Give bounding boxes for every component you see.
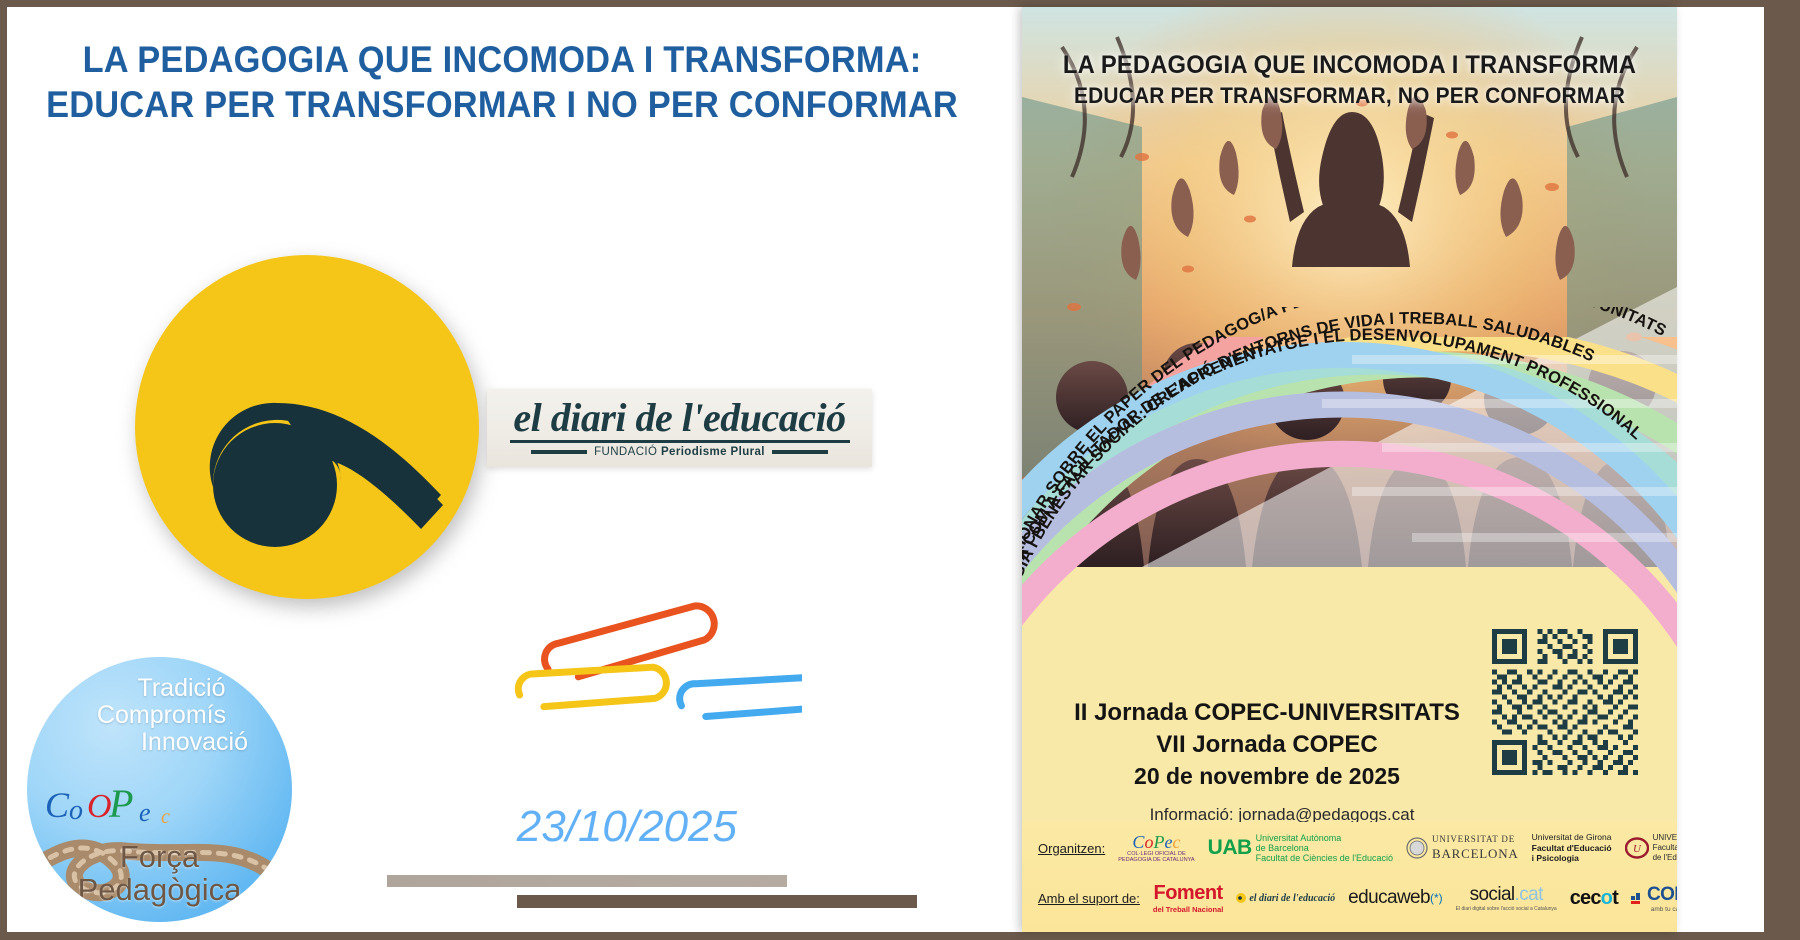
decorative-bar-dark [517, 895, 917, 908]
decorative-bar-light [387, 875, 787, 887]
supporters-row: Amb el suport de: Foment del Treball Nac… [1038, 876, 1663, 920]
socialcat-sub: El diari digital sobre l'acció social a … [1456, 906, 1557, 912]
poster-title-line2: EDUCAR PER TRANSFORMAR, NO PER CONFORMAR [1038, 82, 1660, 111]
uab-sub1: Universitat Autònoma [1256, 833, 1342, 843]
cecot-mark-o: o [1601, 887, 1612, 909]
logo-udg[interactable]: Universitat de Girona Facultat d'Educaci… [1532, 827, 1612, 869]
socialcat-mark: social [1470, 884, 1515, 905]
copec-claim: Tradició Compromís Innovació [27, 675, 292, 756]
diari-subline: FUNDACIÓ Periodisme Plural [531, 446, 828, 458]
urv-line2: Facultat de Ciències [1653, 843, 1677, 852]
organizers-label: Organitzen: [1038, 841, 1105, 856]
page-title-line2: EDUCAR PER TRANSFORMAR I NO PER CONFORMA… [42, 82, 963, 127]
coell-squares-icon [1631, 891, 1645, 905]
diari-educacio-logo: el diari de l'educació FUNDACIÓ Periodis… [487, 389, 872, 467]
page-title-line1: LA PEDAGOGIA QUE INCOMODA I TRANSFORMA: [83, 39, 922, 80]
date-label: 23/10/2025 [337, 802, 737, 852]
paperclips-decoration [502, 582, 802, 737]
ub-line2: BARCELONA [1432, 846, 1519, 861]
slide-canvas: LA PEDAGOGIA QUE INCOMODA I TRANSFORMA: … [0, 0, 1800, 940]
poster-title: LA PEDAGOGIA QUE INCOMODA I TRANSFORMA E… [1022, 49, 1677, 110]
poster-jornada-line1: II Jornada COPEC-UNIVERSITATS [1052, 697, 1482, 729]
ub-line1: UNIVERSITAT DE [1432, 834, 1515, 844]
diari-sub-prefix: FUNDACIÓ [594, 446, 661, 458]
udg-line1: Universitat de Girona [1532, 832, 1612, 842]
diari-wordmark: el diari de l'educació [513, 398, 845, 438]
diari-rule [510, 440, 850, 443]
poster-sponsor-footer: Organitzen: CoPec COL·LEGI OFICIAL DE PE… [1022, 822, 1677, 932]
logo-uab[interactable]: UAB Universitat Autònoma de Barcelona Fa… [1208, 827, 1393, 869]
organizers-row: Organitzen: CoPec COL·LEGI OFICIAL DE PE… [1038, 826, 1663, 870]
udg-line3: i Psicologia [1532, 853, 1579, 863]
diari-mini-dot-icon [1236, 893, 1246, 903]
urv-line1: UNIVERSITAT ROVIRA i VIRGILI [1653, 833, 1677, 842]
cecot-mark-b: t [1612, 887, 1618, 909]
left-content-panel: LA PEDAGOGIA QUE INCOMODA I TRANSFORMA: … [7, 7, 1017, 932]
uab-sub2: de Barcelona [1256, 843, 1309, 853]
diari-sub-bar-left [531, 450, 587, 454]
poster-event-details: II Jornada COPEC-UNIVERSITATS VII Jornad… [1052, 697, 1482, 792]
coell-mark: COELL [1647, 884, 1677, 906]
paperclip-icons [502, 582, 802, 737]
diari-mini-mark: el diari de l'educació [1249, 893, 1335, 904]
urv-line3: de l'Educació i Psicologia [1653, 853, 1677, 862]
foment-mark: Foment [1153, 882, 1223, 905]
logo-cecot[interactable]: cecot [1570, 877, 1618, 919]
diari-sub-text: FUNDACIÓ Periodisme Plural [594, 446, 765, 458]
frame-bottom-edge [0, 932, 1800, 940]
poster-jornada-line2: VII Jornada COPEC [1052, 729, 1482, 761]
ub-seal-icon [1406, 837, 1428, 859]
logo-educaweb[interactable]: educaweb (*) [1348, 877, 1443, 919]
diari-sub-bar-right [772, 450, 828, 454]
logo-coell[interactable]: COELL amb tu cap al futur [1631, 877, 1677, 919]
copec-force-line1: Força [27, 840, 292, 873]
poster-jornada-date: 20 de novembre de 2025 [1052, 761, 1482, 792]
copec-force-line2: Pedagògica [27, 873, 292, 906]
copec-logo: Tradició Compromís Innovació C o O P e c [27, 657, 292, 922]
udg-line2: Facultat d'Educació [1532, 843, 1612, 853]
uab-sub3: Facultat de Ciències de l'Educació [1256, 853, 1393, 863]
copec-force-text: Força Pedagògica [27, 840, 292, 906]
logo-copec[interactable]: CoPec COL·LEGI OFICIAL DE PEDAGOGIA DE C… [1118, 827, 1194, 869]
educaweb-star: (*) [1430, 891, 1443, 905]
urv-mark-icon: U [1625, 837, 1649, 859]
frame-right-edge [1764, 0, 1800, 940]
copec-mini-sub2: PEDAGOGIA DE CATALUNYA [1118, 857, 1194, 863]
logo-foment[interactable]: Foment del Treball Nacional [1153, 877, 1223, 919]
copec-claim-line1: Tradició [27, 675, 292, 702]
svg-text:U: U [1633, 843, 1642, 855]
support-label: Amb el suport de: [1038, 891, 1140, 906]
copec-claim-line2: Compromís [27, 702, 292, 729]
copec-mini-sub1: COL·LEGI OFICIAL DE [1127, 851, 1186, 857]
qr-code-icon[interactable] [1492, 629, 1638, 775]
logo-urv[interactable]: U UNIVERSITAT ROVIRA i VIRGILI Facultat … [1625, 827, 1677, 869]
page-title: LA PEDAGOGIA QUE INCOMODA I TRANSFORMA: … [42, 37, 963, 127]
comma-icon [117, 237, 497, 617]
frame-top-edge [0, 0, 1800, 7]
socialcat-suffix: .cat [1515, 884, 1543, 905]
paperclip-blue [679, 669, 802, 725]
logo-ub[interactable]: UNIVERSITAT DE BARCELONA [1406, 827, 1519, 869]
educaweb-mark: educaweb [1348, 887, 1430, 909]
paperclip-yellow [517, 658, 667, 715]
poster-arc-line3: EL PEDAGOGIA COM A FACILITADOR DE L'APRE… [1022, 326, 1646, 673]
logo-socialcat[interactable]: social.cat El diari digital sobre l'acci… [1456, 877, 1557, 919]
logo-diari-educacio[interactable]: el diari de l'educació [1236, 877, 1335, 919]
coell-sub: amb tu cap al futur [1647, 906, 1677, 913]
frame-left-edge [0, 0, 7, 940]
cecot-mark-a: cec [1570, 887, 1601, 909]
event-poster-image[interactable]: LA PEDAGOGIA QUE INCOMODA I TRANSFORMA E… [1022, 7, 1677, 932]
diari-sub-bold: Periodisme Plural [661, 446, 765, 458]
diari-brandmark [117, 237, 497, 617]
uab-mark: UAB [1208, 836, 1252, 860]
copec-claim-line3: Innovació [27, 729, 292, 756]
poster-title-line1: LA PEDAGOGIA QUE INCOMODA I TRANSFORMA [1038, 49, 1660, 82]
foment-sub: del Treball Nacional [1153, 905, 1223, 914]
